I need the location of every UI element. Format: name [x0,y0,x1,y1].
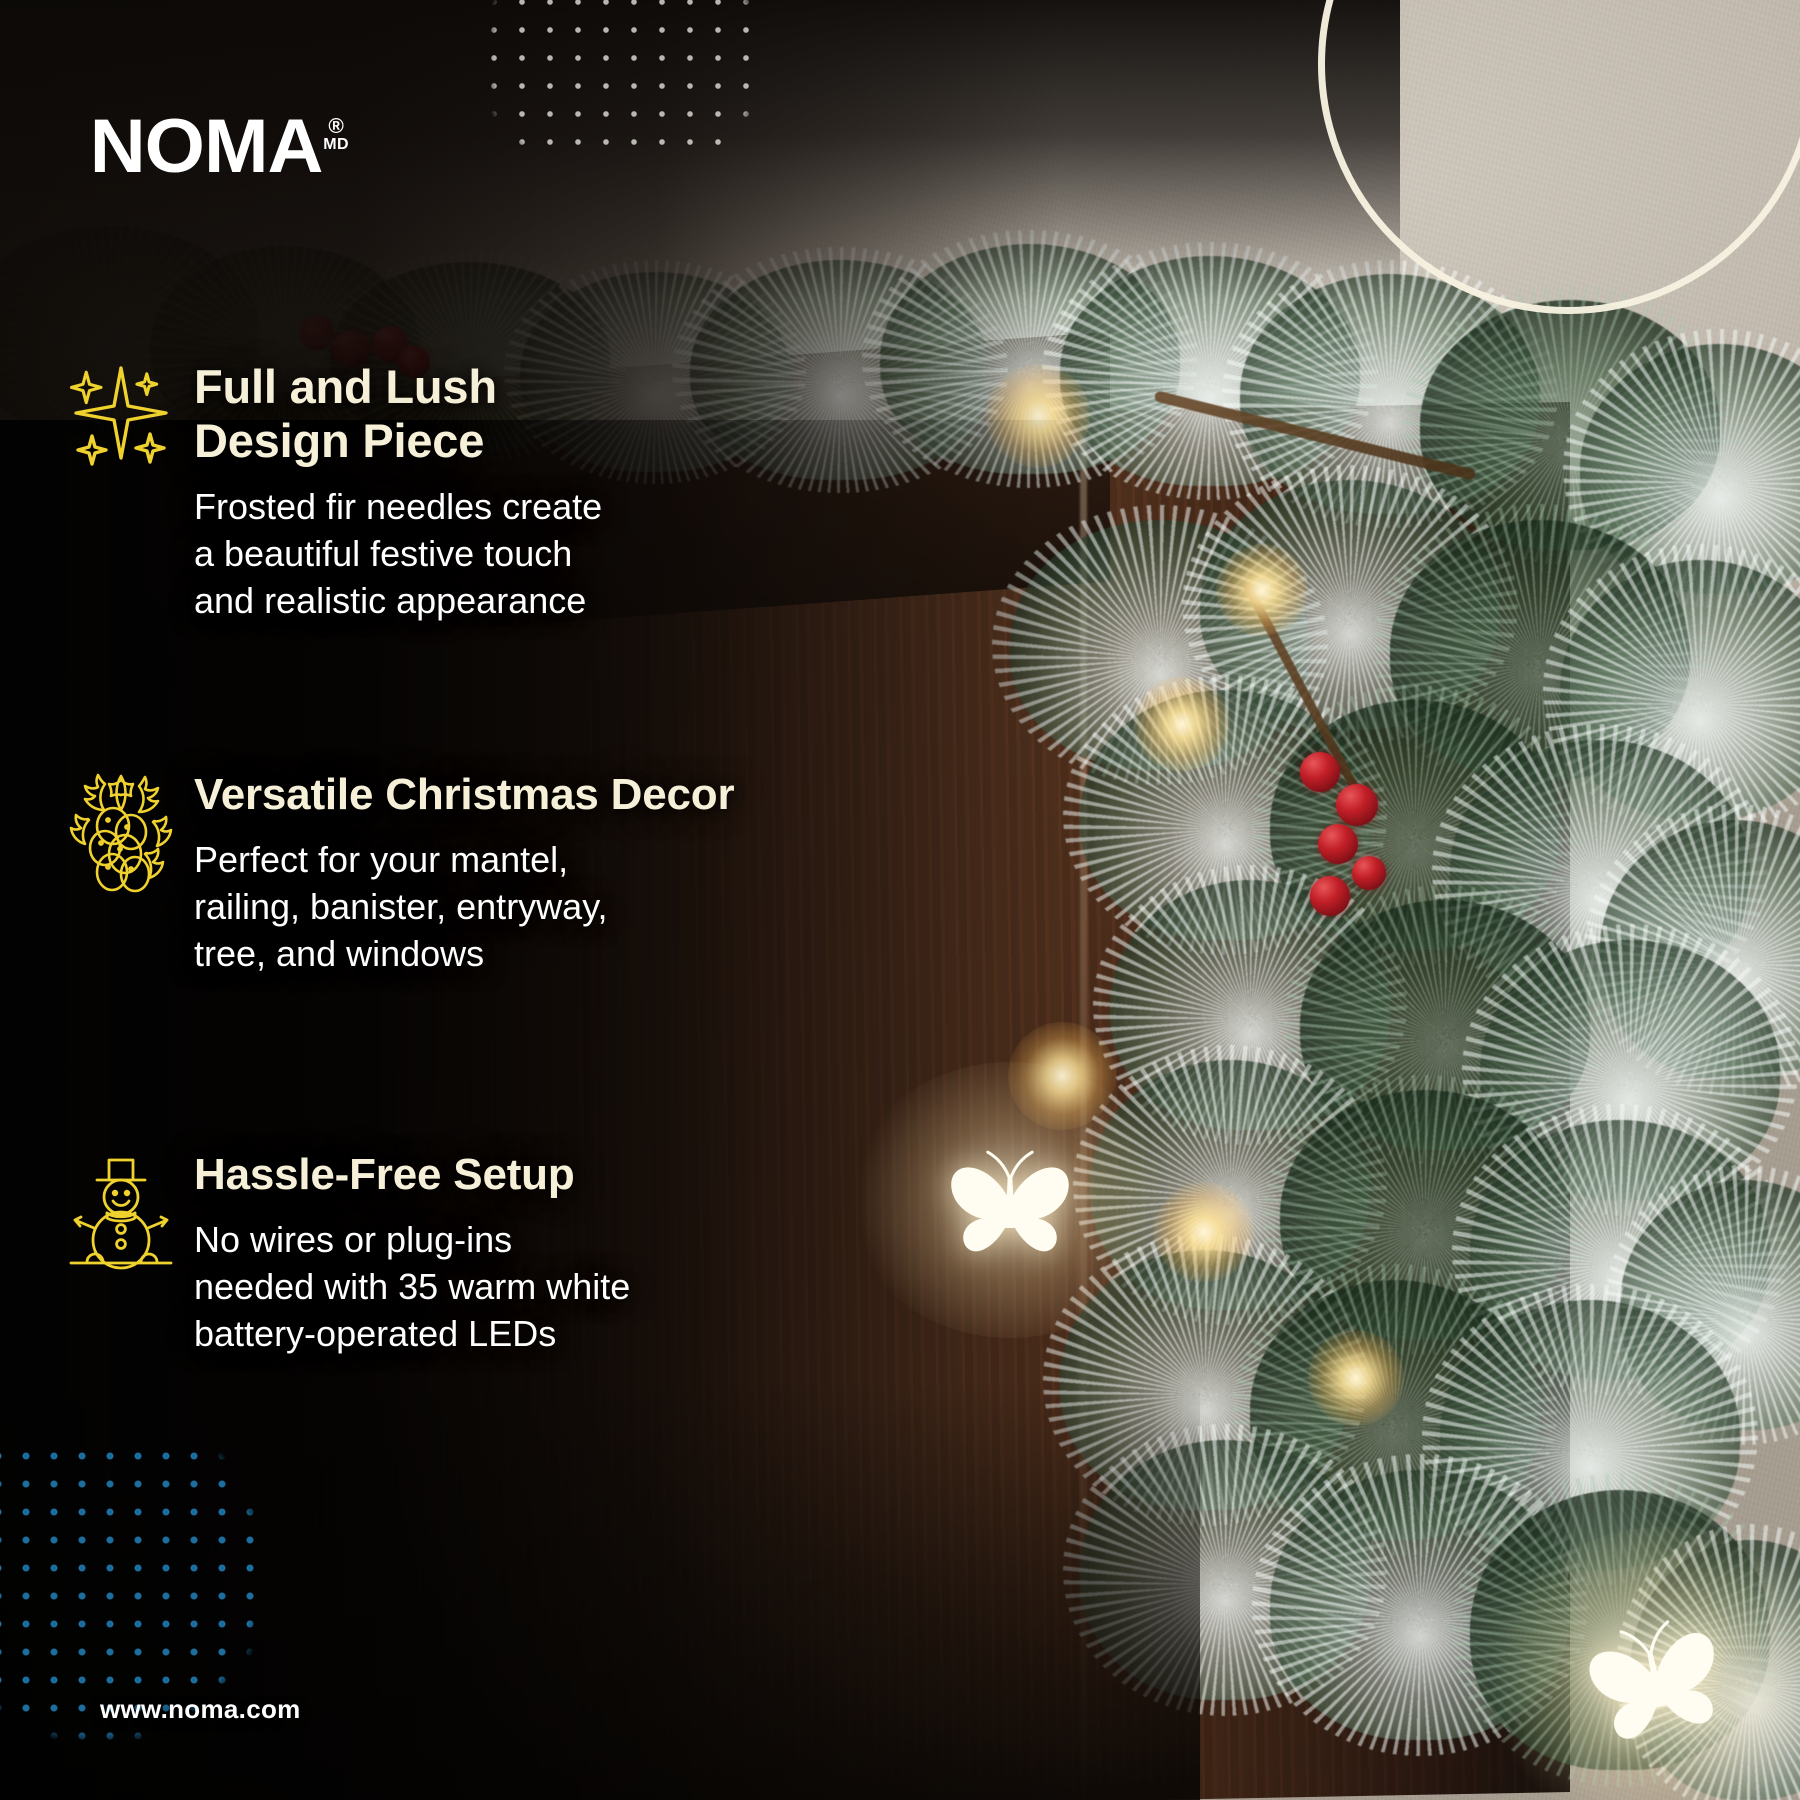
feature-title-line: Full and Lush [194,360,602,414]
logo-trademark-marks: ® MD [323,116,349,154]
feature-title: Full and Lush Design Piece [194,360,602,467]
feature-item-full-and-lush: Full and Lush Design Piece Frosted fir n… [62,360,602,625]
sparkle-icon [62,360,180,625]
feature-description: No wires or plug-ins needed with 35 warm… [194,1217,630,1357]
feature-description: Frosted fir needles create a beautiful f… [194,484,602,624]
feature-description-line: a beautiful festive touch [194,531,602,578]
feature-description-line: tree, and windows [194,931,734,978]
website-url[interactable]: www.noma.com [100,1694,301,1725]
md-mark-label: MD [323,137,349,154]
feature-item-hassle-free-setup: Hassle-Free Setup No wires or plug-ins n… [62,1150,630,1358]
snowman-icon [62,1150,180,1358]
noma-logo: NOMA ® MD [92,112,349,182]
feature-item-versatile-decor: Versatile Christmas Decor Perfect for yo… [62,770,734,978]
feature-text-block: Hassle-Free Setup No wires or plug-ins n… [180,1150,630,1358]
feature-title: Versatile Christmas Decor [194,770,734,820]
holly-icon [62,770,180,978]
feature-card: NOMA ® MD [0,0,1800,1800]
feature-title-line: Design Piece [194,414,602,468]
feature-text-block: Full and Lush Design Piece Frosted fir n… [180,360,602,625]
logo-wordmark: NOMA [90,112,323,182]
feature-title-line: Versatile Christmas Decor [194,770,734,820]
registered-trademark-icon: ® [328,116,343,137]
feature-description-line: Frosted fir needles create [194,484,602,531]
sparkle-icon-glyph [68,360,174,470]
feature-description-line: battery-operated LEDs [194,1311,630,1358]
feature-description: Perfect for your mantel, railing, banist… [194,837,734,977]
holly-icon-glyph [65,770,177,894]
feature-description-line: needed with 35 warm white [194,1264,630,1311]
snowman-icon-glyph [67,1150,175,1270]
feature-text-block: Versatile Christmas Decor Perfect for yo… [180,770,734,978]
content-layer: NOMA ® MD [0,0,1800,1800]
feature-title: Hassle-Free Setup [194,1150,630,1200]
feature-description-line: and realistic appearance [194,578,602,625]
feature-description-line: Perfect for your mantel, [194,837,734,884]
feature-description-line: railing, banister, entryway, [194,884,734,931]
feature-description-line: No wires or plug-ins [194,1217,630,1264]
feature-title-line: Hassle-Free Setup [194,1150,630,1200]
